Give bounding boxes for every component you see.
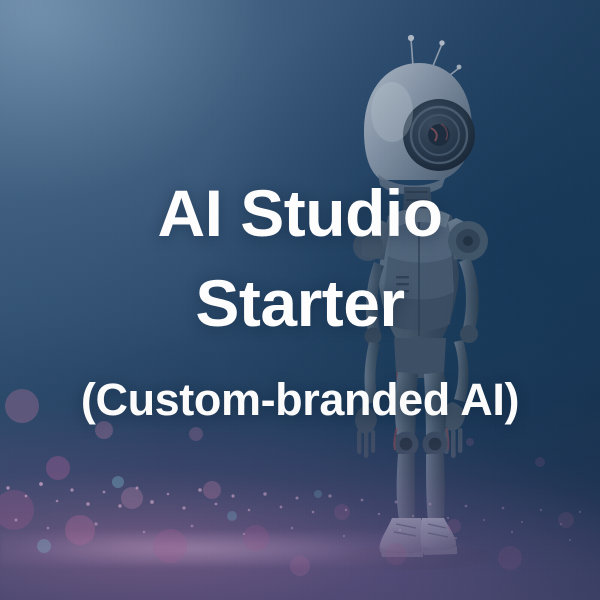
page-title: AI Studio Starter: [85, 169, 515, 349]
page-subtitle: (Custom-branded AI): [81, 375, 519, 425]
caption-block: AI Studio Starter (Custom-branded AI): [0, 0, 600, 600]
promo-card: AI Studio Starter (Custom-branded AI): [0, 0, 600, 600]
